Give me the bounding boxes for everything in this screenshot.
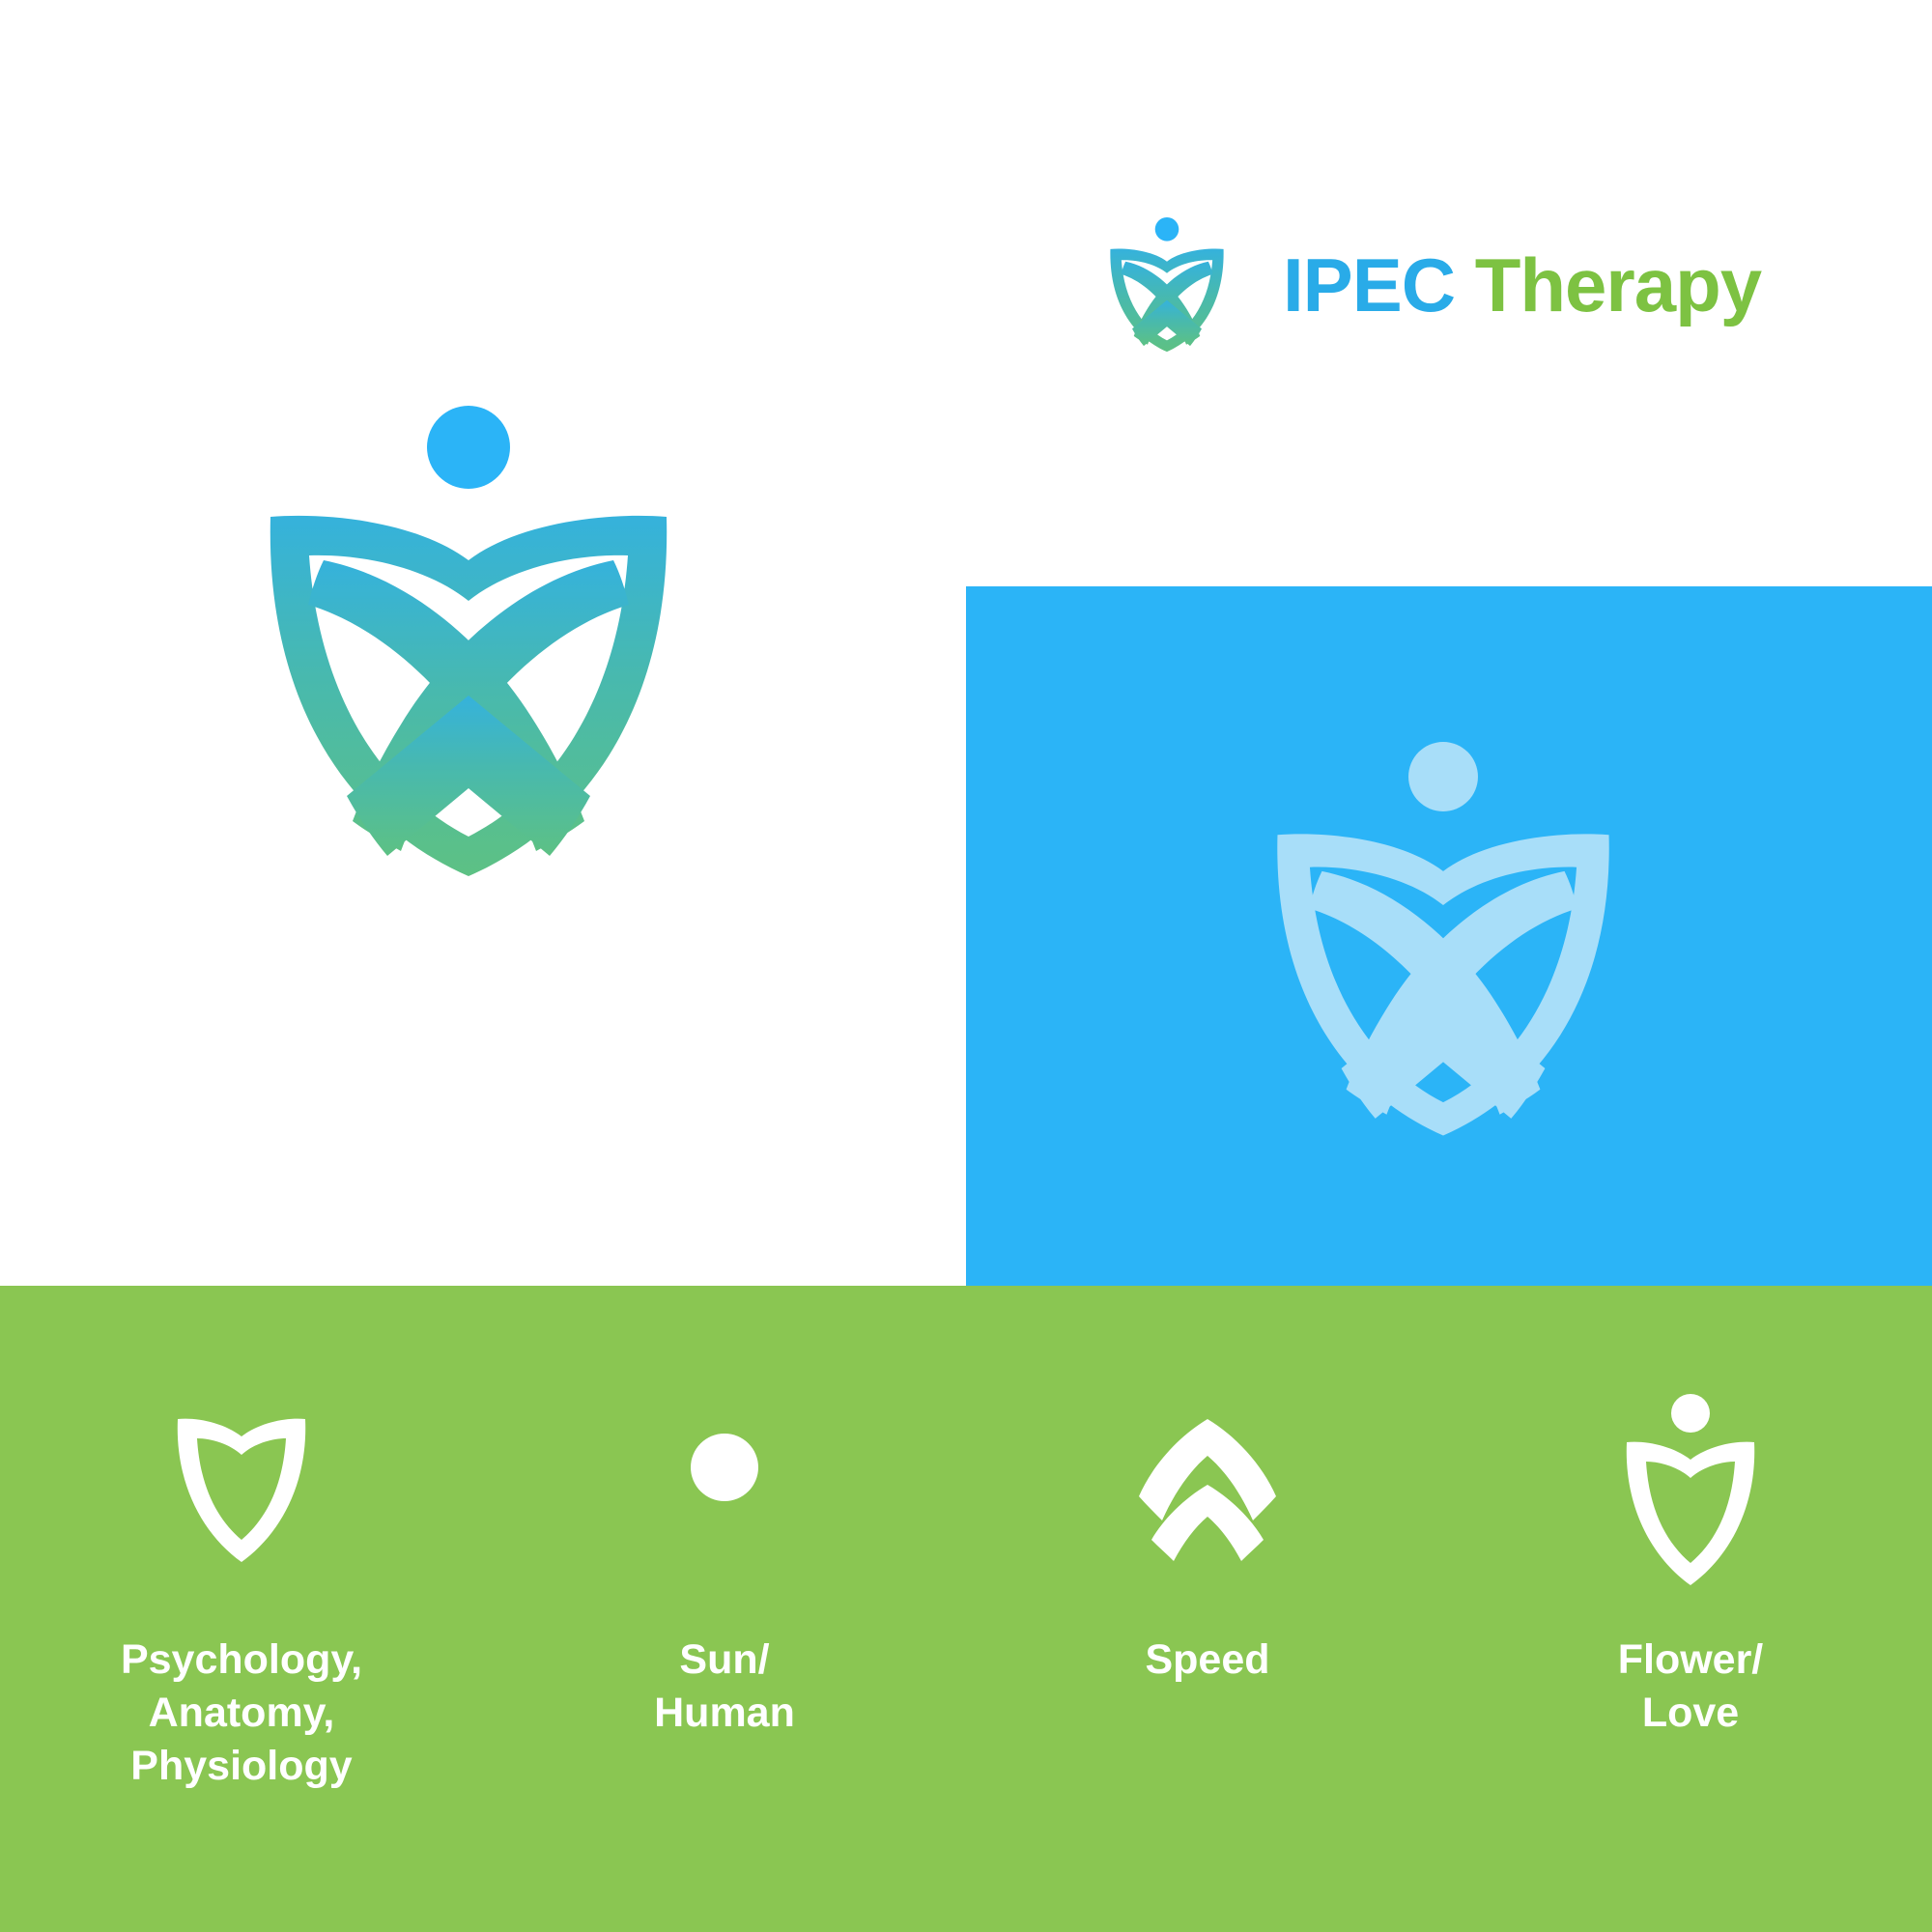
lockup-mark-shield [1110,249,1223,353]
element-cell-speed: Speed [966,1286,1449,1932]
element-icon-slot [657,1286,792,1576]
element-breakdown-row: Psychology, Anatomy, Physiology Sun/ Hum… [0,1286,1932,1932]
element-label: Psychology, Anatomy, Physiology [121,1634,362,1793]
logo-lockup: IPEC Therapy [1109,198,1761,372]
element-icon-slot [1135,1286,1280,1576]
element-label: Speed [1145,1634,1269,1687]
element-cell-flower-love: Flower/ Love [1449,1286,1932,1932]
circle-dot-icon [657,1411,792,1566]
hero-mark-dot [427,406,510,489]
wordmark-secondary: Therapy [1475,242,1761,327]
element-cell-sun-human: Sun/ Human [483,1286,966,1932]
element-icon-slot [174,1286,309,1576]
element-label: Sun/ Human [654,1634,795,1740]
lockup-logo-mark [1109,198,1225,372]
double-chevron-up-icon [1135,1411,1280,1566]
wordmark: IPEC Therapy [1283,247,1761,323]
shield-with-dot-icon [1623,1392,1758,1585]
element-cell-psychology-anatomy-physiology: Psychology, Anatomy, Physiology [0,1286,483,1932]
hero-logo-mark [266,406,671,879]
reverse-logo-mark-on-blue [1273,742,1613,1138]
wordmark-primary: IPEC [1283,242,1455,327]
reverse-mark-dot [1408,742,1478,811]
lockup-mark-dot [1155,217,1179,241]
shield-outline-icon [174,1411,309,1566]
element-icon-slot [1623,1286,1758,1576]
element-label: Flower/ Love [1618,1634,1764,1740]
brand-identity-sheet: IPEC Therapy Psychology, Anatomy, Physio… [0,0,1932,1932]
reverse-mark-shield [1277,834,1608,1135]
shield-dot [1671,1394,1710,1433]
hero-mark-shield [270,516,667,879]
